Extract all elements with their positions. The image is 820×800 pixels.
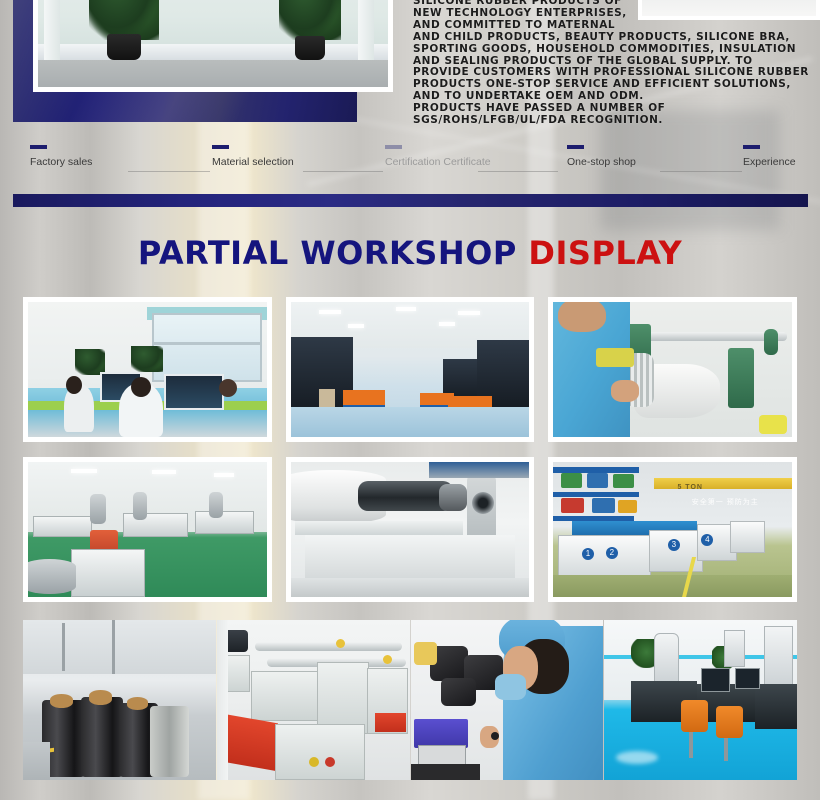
- feature-item-factory-sales[interactable]: Factory sales: [30, 145, 92, 168]
- safety-banner-text: 安全第一 预防为主: [692, 497, 759, 507]
- gallery-photo-testing-laboratory[interactable]: [604, 620, 797, 780]
- machine-number-badge: 2: [606, 547, 618, 559]
- feature-label: Factory sales: [30, 156, 92, 168]
- gallery-photo-printing-die-cutting[interactable]: [217, 620, 410, 780]
- corridor-photo-content: [38, 0, 388, 87]
- gallery-photo-calender-roller[interactable]: [286, 457, 535, 602]
- photo-content: [291, 462, 530, 597]
- feature-dash-icon: [30, 145, 47, 149]
- feature-item-one-stop-shop[interactable]: One-stop shop: [567, 145, 636, 168]
- photo-content: [28, 302, 267, 437]
- gallery-row-2: 1 2 3 4 5 TON 安全第一 预防为主: [23, 457, 797, 602]
- company-description: SILICONE RUBBER PRODUCTS OF NEW TECHNOLO…: [413, 0, 813, 127]
- machine-number-badge: 3: [668, 539, 680, 551]
- feature-dash-icon: [212, 145, 229, 149]
- machine-number-badge: 4: [701, 534, 713, 546]
- feature-label: Material selection: [212, 156, 294, 168]
- feature-label: Experience: [743, 156, 796, 168]
- feature-connector: [660, 171, 742, 172]
- company-line: SPORTING GOODS, HOUSEHOLD COMMODITIES, I…: [413, 44, 813, 56]
- feature-strip: Factory sales Material selection Certifi…: [0, 145, 820, 185]
- gallery-row-3: [23, 620, 797, 780]
- company-line: AND COMMITTED TO MATERNAL: [413, 20, 813, 32]
- feature-item-certification-certificate[interactable]: Certification Certificate: [385, 145, 491, 168]
- page-title-primary: PARTIAL WORKSHOP: [138, 234, 517, 272]
- feature-label: Certification Certificate: [385, 156, 491, 168]
- photo-content: 1 2 3 4 5 TON 安全第一 预防为主: [553, 462, 792, 597]
- section-divider-bar: [13, 194, 808, 207]
- photo-content: [604, 620, 797, 780]
- corridor-photo: [33, 0, 393, 92]
- feature-dash-icon: [743, 145, 760, 149]
- photo-content: [217, 620, 410, 780]
- feature-dash-icon: [385, 145, 402, 149]
- gallery-photo-material-rolls-warehouse[interactable]: [23, 620, 216, 780]
- feature-connector: [303, 171, 383, 172]
- photo-content: [28, 462, 267, 597]
- feature-item-material-selection[interactable]: Material selection: [212, 145, 294, 168]
- gallery-photo-qc-inspection-station[interactable]: [411, 620, 604, 780]
- gallery-photo-cnc-machining-aisle[interactable]: [286, 297, 535, 442]
- page-title: PARTIAL WORKSHOP DISPLAY: [0, 234, 820, 272]
- feature-dash-icon: [567, 145, 584, 149]
- gallery-row-1: [23, 297, 797, 442]
- photo-content: [23, 620, 216, 780]
- company-line: AND CHILD PRODUCTS, BEAUTY PRODUCTS, SIL…: [413, 32, 813, 44]
- feature-connector: [128, 171, 210, 172]
- gallery-photo-injection-molding-hall[interactable]: 1 2 3 4 5 TON 安全第一 预防为主: [548, 457, 797, 602]
- feature-connector: [478, 171, 558, 172]
- crane-capacity-label: 5 TON: [677, 484, 703, 491]
- photo-content: [553, 302, 792, 437]
- gallery-photo-worker-green-machine[interactable]: [548, 297, 797, 442]
- photo-content: [291, 302, 530, 437]
- feature-label: One-stop shop: [567, 156, 636, 168]
- gallery-photo-extrusion-line[interactable]: [23, 457, 272, 602]
- company-line: SGS/ROHS/LFGB/UL/FDA RECOGNITION.: [413, 115, 813, 127]
- feature-item-experience[interactable]: Experience: [743, 145, 796, 168]
- photo-content: [411, 620, 604, 780]
- gallery-photo-office-cad-room[interactable]: [23, 297, 272, 442]
- page-title-accent: DISPLAY: [528, 234, 682, 272]
